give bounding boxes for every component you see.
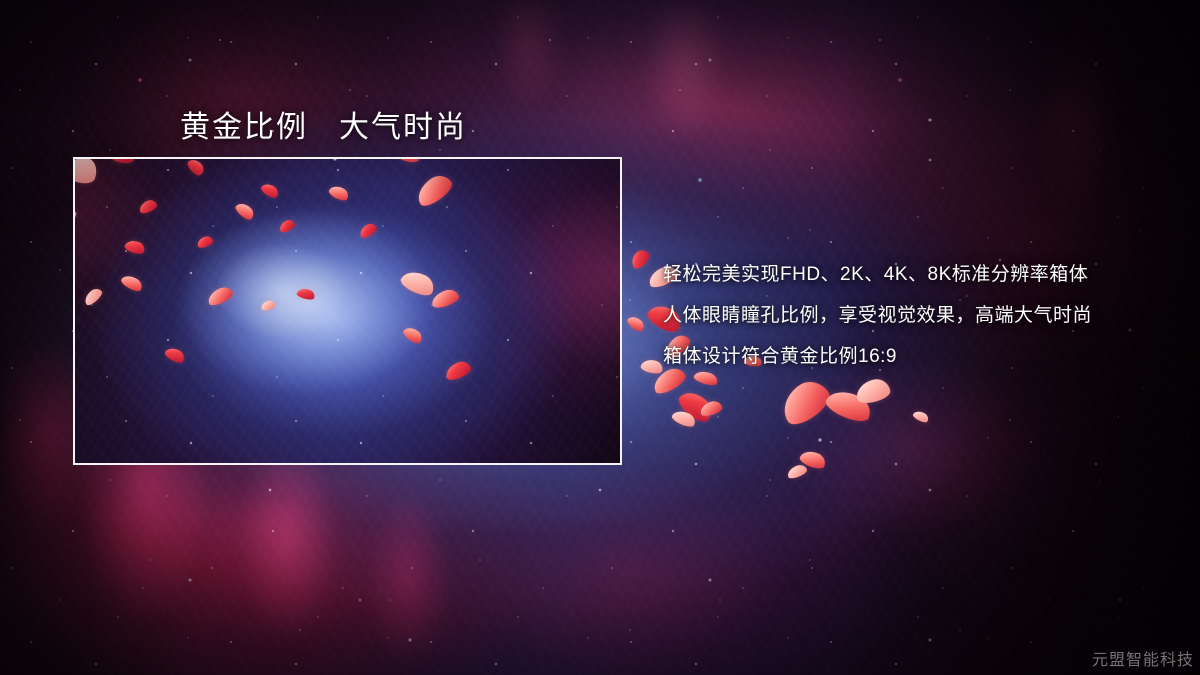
framed-nebula-art	[73, 157, 622, 465]
flower-petal	[628, 247, 652, 271]
flower-petal	[626, 314, 647, 334]
slide-title: 黄金比例 大气时尚	[180, 102, 467, 146]
flower-petal	[675, 386, 716, 426]
flower-petal	[854, 377, 892, 406]
presentation-slide: 黄金比例 大气时尚 轻松完美实现FHD、2K、4K、8K标准分辨率箱体 人体眼睛…	[0, 0, 1200, 675]
watermark-label: 元盟智能科技	[1092, 646, 1194, 670]
flower-petal	[699, 399, 724, 418]
framed-nebula-vignette	[73, 157, 622, 465]
nebula-photo-frame	[73, 157, 622, 465]
body-line-2: 人体眼睛瞳孔比例，享受视觉效果，高端大气时尚	[663, 295, 1163, 336]
body-line-3: 箱体设计符合黄金比例16:9	[663, 336, 1163, 377]
slide-body-text: 轻松完美实现FHD、2K、4K、8K标准分辨率箱体 人体眼睛瞳孔比例，享受视觉效…	[663, 254, 1163, 377]
flower-petal	[786, 463, 809, 480]
flower-petal	[823, 385, 875, 427]
flower-petal	[640, 358, 664, 376]
flower-petal	[798, 448, 828, 472]
body-line-1: 轻松完美实现FHD、2K、4K、8K标准分辨率箱体	[663, 254, 1163, 295]
flower-petal	[912, 409, 930, 424]
flower-petal	[775, 374, 835, 430]
flower-petal	[670, 408, 697, 430]
